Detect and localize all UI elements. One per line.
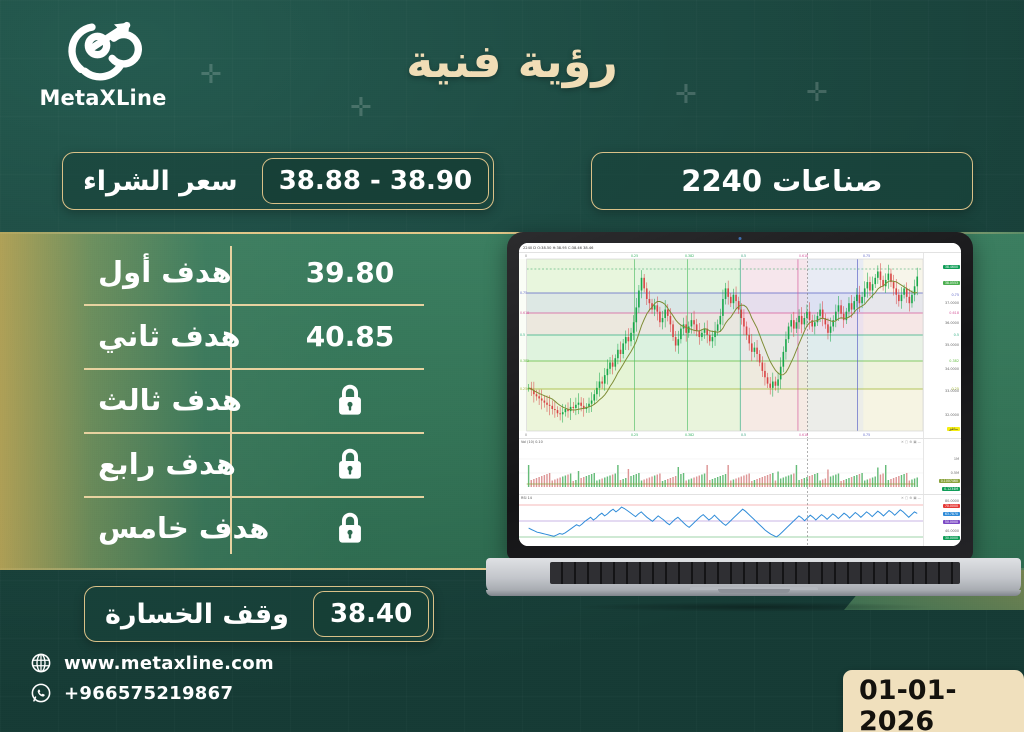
axis-tick: 0.5M <box>951 471 959 475</box>
date-badge: 01-01-2026 <box>843 670 1024 732</box>
table-row: هدف أول 39.80 <box>84 240 424 304</box>
panel-controls-icon[interactable]: ✕ ▢ ⚙ ▣ — <box>901 440 921 444</box>
laptop-keyboard <box>550 562 960 584</box>
last-price-chip: 38.4600 <box>943 265 960 269</box>
table-row: هدف ثالث <box>84 368 424 432</box>
laptop-lid: 2240 D O:38.50 H:38.95 C:38.46 38.46 <box>507 232 973 560</box>
target-label: هدف ثالث <box>84 383 276 417</box>
ticker-badge[interactable]: صناعات 2240 <box>591 152 973 210</box>
volume-plot <box>519 439 923 494</box>
axis-tick: 33.0000 <box>945 389 959 393</box>
volume-svg <box>519 439 923 494</box>
axis-tick: 1M <box>954 457 959 461</box>
axis-tick: 40.0000 <box>945 529 959 533</box>
stop-loss-badge[interactable]: وقف الخسارة 38.40 <box>84 586 434 642</box>
chart-ohlc-text: 2240 D O:38.50 H:38.95 C:38.46 38.46 <box>523 246 593 250</box>
axis-fib-05: 0.5 <box>954 333 959 337</box>
panel-price[interactable]: 0 0.25 0.382 0.5 0.618 0.75 0 0.25 0.382… <box>519 252 961 438</box>
target-label: هدف ثاني <box>84 319 276 353</box>
panel-controls-icon[interactable]: ✕ ▢ ⚙ ▣ — <box>901 496 921 500</box>
axis-fib-0618: 0.618 <box>949 311 959 315</box>
lock-icon <box>335 383 365 417</box>
target-label: هدف أول <box>84 255 276 289</box>
target-value-locked <box>276 447 424 481</box>
axis-tick: 36.0000 <box>945 321 959 325</box>
brand-name: MetaXLine <box>28 86 178 110</box>
target-value-locked <box>276 511 424 545</box>
ma-price-chip: 38.0553 <box>943 281 960 285</box>
website-row[interactable]: www.metaxline.com <box>30 652 274 674</box>
rsi-chip: 50.0000 <box>943 520 960 524</box>
laptop-mockup: 2240 D O:38.50 H:38.95 C:38.46 38.46 <box>486 232 1021 604</box>
panel-volume[interactable]: Vol (10) 0.10 ✕ ▢ ⚙ ▣ — <box>519 438 961 494</box>
axis-note-chip: مناطق <box>947 427 960 431</box>
globe-icon <box>30 652 52 674</box>
buy-price-badge[interactable]: سعر الشراء 38.88 - 38.90 <box>62 152 494 210</box>
axis-tick: 34.0000 <box>945 367 959 371</box>
table-row: هدف ثاني 40.85 <box>84 304 424 368</box>
buy-price-value: 38.88 - 38.90 <box>262 158 489 204</box>
page-title: رؤية فنية <box>0 34 1024 88</box>
rsi-svg <box>519 495 923 546</box>
whatsapp-icon <box>30 682 52 704</box>
footer-contact: www.metaxline.com +966575219867 <box>30 652 274 712</box>
targets-table: هدف أول 39.80 هدف ثاني 40.85 هدف ثالث هد… <box>84 240 424 560</box>
webcam-icon <box>739 237 742 240</box>
phone-text: +966575219867 <box>64 683 233 704</box>
volume-chip: 0.1007460 <box>939 479 960 483</box>
rsi-chip: 63.7870 <box>943 512 960 516</box>
panel-rsi[interactable]: RSI 14 ✕ ▢ ⚙ ▣ — 80. <box>519 494 961 546</box>
rsi-header: RSI 14 <box>521 496 532 500</box>
rsi-chip: 30.0000 <box>943 536 960 540</box>
stop-loss-label: وقف الخسارة <box>85 599 309 630</box>
lock-icon <box>335 447 365 481</box>
target-value: 39.80 <box>276 256 424 289</box>
axis-tick: 32.0000 <box>945 413 959 417</box>
lock-icon <box>335 511 365 545</box>
volume-header: Vol (10) 0.10 <box>521 440 543 444</box>
phone-row[interactable]: +966575219867 <box>30 682 274 704</box>
table-row: هدف خامس <box>84 496 424 560</box>
rsi-plot <box>519 495 923 546</box>
poster-canvas: ✛ ✛ ✛ ✛ MetaXLine رؤية فنية صناعات 2240 … <box>0 0 1024 732</box>
chart-header-price: 2240 D O:38.50 H:38.95 C:38.46 38.46 <box>519 243 961 252</box>
table-row: هدف رابع <box>84 432 424 496</box>
volume-chip: 0.1234M <box>942 487 960 491</box>
target-value: 40.85 <box>276 320 424 353</box>
buy-price-label: سعر الشراء <box>63 166 258 197</box>
axis-tick: 35.0000 <box>945 343 959 347</box>
axis-fib-0382: 0.382 <box>949 359 959 363</box>
axis-tick: 80.0000 <box>945 499 959 503</box>
rsi-chip: 70.0000 <box>943 504 960 508</box>
laptop-screen: 2240 D O:38.50 H:38.95 C:38.46 38.46 <box>519 243 961 546</box>
website-text: www.metaxline.com <box>64 653 274 674</box>
laptop-notch <box>718 589 790 593</box>
axis-fib-075: 0.75 <box>951 293 959 297</box>
price-axis: 38.4600 38.0553 0.75 0.618 0.5 0.382 0.2… <box>923 253 961 438</box>
target-label: هدف رابع <box>84 447 276 481</box>
stop-loss-value: 38.40 <box>313 591 429 637</box>
target-value-locked <box>276 383 424 417</box>
ticker-label: صناعات 2240 <box>681 164 882 198</box>
volume-axis: 1M 0.5M 0.1007460 0.1234M <box>923 439 961 494</box>
price-plot: 0 0.25 0.382 0.5 0.618 0.75 0 0.25 0.382… <box>519 253 923 438</box>
trading-chart[interactable]: 2240 D O:38.50 H:38.95 C:38.46 38.46 <box>519 243 961 546</box>
rsi-axis: 80.0000 70.0000 63.7870 50.0000 40.0000 … <box>923 495 961 546</box>
axis-tick: 37.0000 <box>945 301 959 305</box>
target-label: هدف خامس <box>84 511 276 545</box>
candlestick-svg <box>519 253 923 438</box>
sparkle-icon: ✛ <box>350 95 372 121</box>
